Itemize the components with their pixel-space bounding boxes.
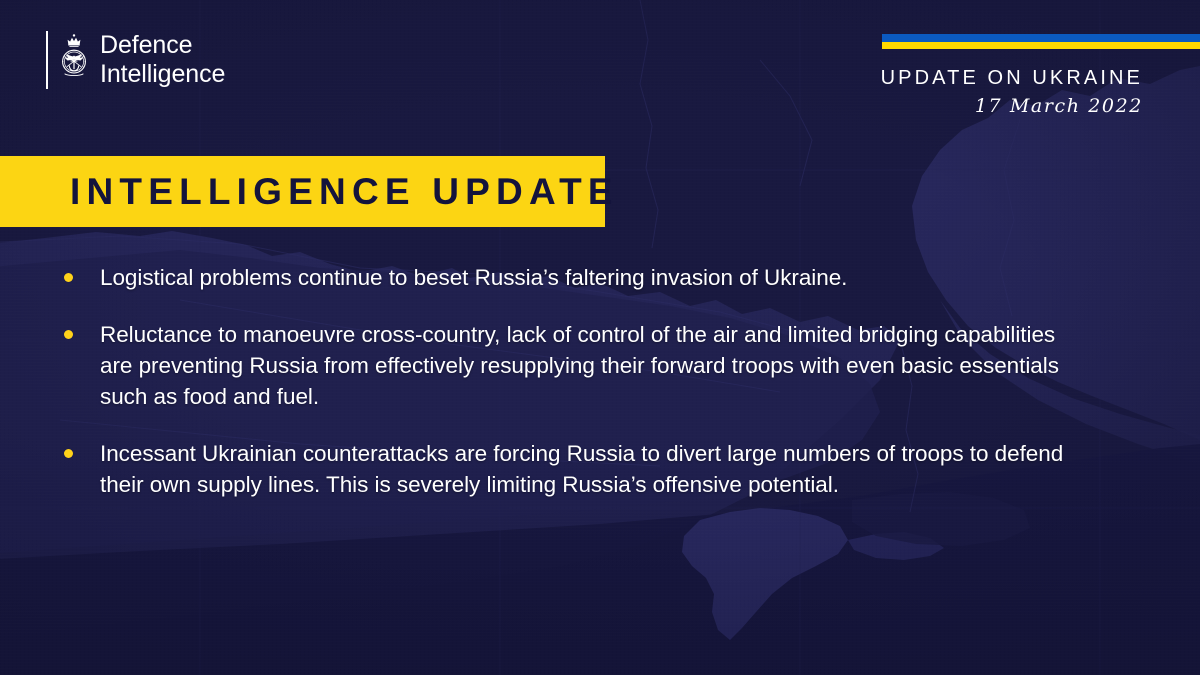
banner-label: INTELLIGENCE UPDATE: [0, 171, 619, 213]
update-date: 17 March 2022: [881, 95, 1200, 117]
flag-stripe-blue: [882, 34, 1200, 42]
update-on-ukraine-title: UPDATE ON UKRAINE: [881, 67, 1200, 90]
list-item: Reluctance to manoeuvre cross-country, l…: [64, 319, 1129, 412]
bullet-text: Logistical problems continue to beset Ru…: [100, 262, 847, 293]
brand-line-defence: Defence: [100, 31, 225, 60]
mod-defence-intelligence-crest-icon: [59, 31, 89, 87]
list-item: Logistical problems continue to beset Ru…: [64, 262, 1129, 293]
brand-wordmark: Defence Intelligence: [100, 31, 225, 89]
bullet-text: Reluctance to manoeuvre cross-country, l…: [100, 319, 1075, 412]
bullet-dot-icon: [64, 330, 73, 339]
bullet-dot-icon: [64, 449, 73, 458]
logo-divider-rule: [46, 31, 48, 89]
bullet-list: Logistical problems continue to beset Ru…: [64, 262, 1129, 500]
bullet-dot-icon: [64, 273, 73, 282]
bullet-text: Incessant Ukrainian counterattacks are f…: [100, 438, 1075, 500]
intelligence-update-slide: Defence Intelligence UPDATE ON UKRAINE 1…: [0, 0, 1200, 675]
ukraine-flag-bar-icon: [882, 34, 1200, 49]
intelligence-update-banner: INTELLIGENCE UPDATE: [0, 156, 605, 227]
flag-stripe-yellow: [882, 42, 1200, 50]
brand-line-intelligence: Intelligence: [100, 60, 225, 89]
defence-intelligence-logo: Defence Intelligence: [46, 31, 225, 89]
update-header-block: UPDATE ON UKRAINE 17 March 2022: [881, 34, 1200, 117]
list-item: Incessant Ukrainian counterattacks are f…: [64, 438, 1129, 500]
